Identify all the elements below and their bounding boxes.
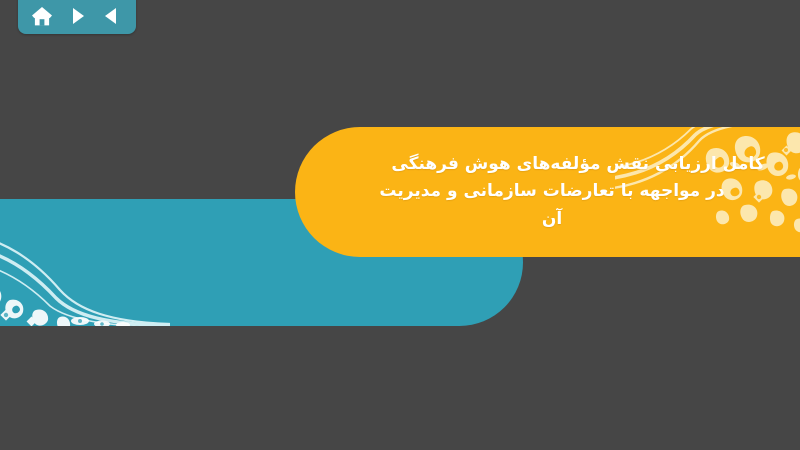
home-button[interactable] <box>27 3 57 29</box>
band-arabesque-ornament-icon <box>0 216 170 326</box>
title-line-3: آن <box>542 206 562 234</box>
home-icon <box>31 6 53 27</box>
next-slide-button[interactable] <box>62 3 92 29</box>
slide-title: کامل ارزیابی نقش مؤلفه‌های هوش فرهنگی در… <box>295 127 800 257</box>
presentation-slide: کامل ارزیابی نقش مؤلفه‌های هوش فرهنگی در… <box>0 0 800 450</box>
triangle-right-icon <box>67 6 87 26</box>
title-line-1: کامل ارزیابی نقش مؤلفه‌های هوش فرهنگی <box>391 151 764 179</box>
title-line-2: در مواجهه با تعارضات سازمانی و مدیریت <box>379 178 724 206</box>
previous-slide-button[interactable] <box>97 3 127 29</box>
navigation-bar <box>18 0 136 34</box>
triangle-left-icon <box>102 6 122 26</box>
title-plate: کامل ارزیابی نقش مؤلفه‌های هوش فرهنگی در… <box>295 127 800 257</box>
